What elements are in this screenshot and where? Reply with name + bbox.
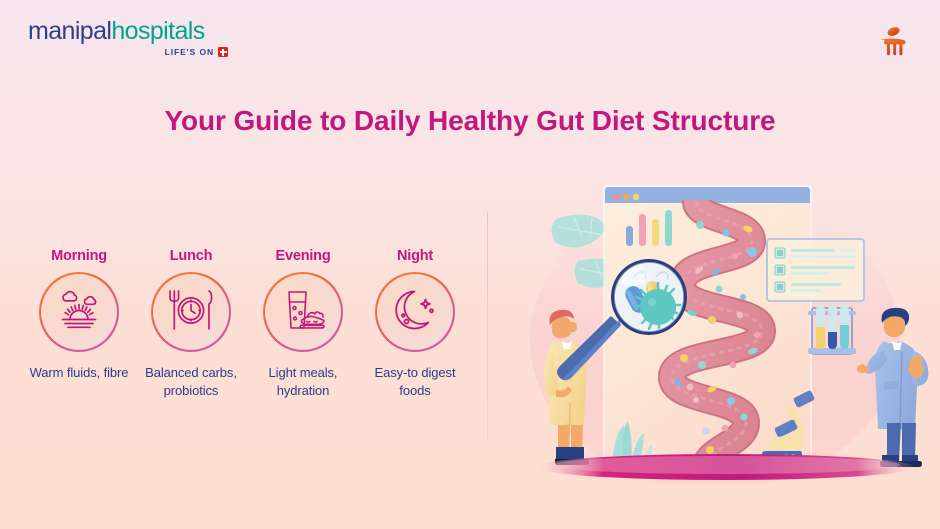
logo-wordmark: manipalhospitals [28,18,228,45]
card-icon-circle-morning [40,273,118,351]
card-evening[interactable]: Evening Li [248,248,358,400]
manipal-hospitals-logo: manipalhospitals LIFE'S ON [28,18,228,62]
card-title-morning: Morning [51,248,107,264]
page-title: Your Guide to Daily Healthy Gut Diet Str… [0,105,940,137]
checklist-card [767,239,864,301]
section-divider [487,212,488,440]
gut-microbiome-research-illustration [500,175,940,485]
card-icon-circle-lunch [152,273,230,351]
card-icon-circle-night [376,273,454,351]
card-title-lunch: Lunch [170,248,213,264]
window-dot-3 [633,194,640,201]
red-cross-icon [218,47,228,57]
card-icon-circle-evening [264,273,342,351]
window-dot-2 [623,194,630,201]
card-caption-evening: Light meals, hydration [248,364,358,400]
card-lunch[interactable]: Lunch Balanced carbs, p [136,248,246,400]
crescent-moon-stars-icon [390,287,440,338]
card-night[interactable]: Night Easy-to digest foods [360,248,470,400]
card-caption-night: Easy-to digest foods [360,364,470,400]
card-morning[interactable]: Morning [24,248,134,400]
glass-sandwich-icon [278,287,328,338]
logo-tagline: LIFE'S ON [165,47,214,57]
logo-word-manipal: manipal [28,17,111,45]
card-caption-morning: Warm fluids, fibre [30,364,129,382]
logo-tagline-row: LIFE'S ON [28,47,228,57]
card-title-evening: Evening [276,248,331,264]
sunrise-icon [54,287,104,338]
logo-word-hospitals: hospitals [111,17,204,45]
card-title-night: Night [397,248,433,264]
cutlery-clock-plate-icon [165,287,217,338]
card-caption-lunch: Balanced carbs, probiotics [136,364,246,400]
infographic-canvas: manipalhospitals LIFE'S ON Your Guide to… [0,0,940,529]
orange-gut-mark-icon [872,22,912,62]
window-dot-1 [613,194,620,201]
meal-timing-card-list: Morning [24,248,470,400]
